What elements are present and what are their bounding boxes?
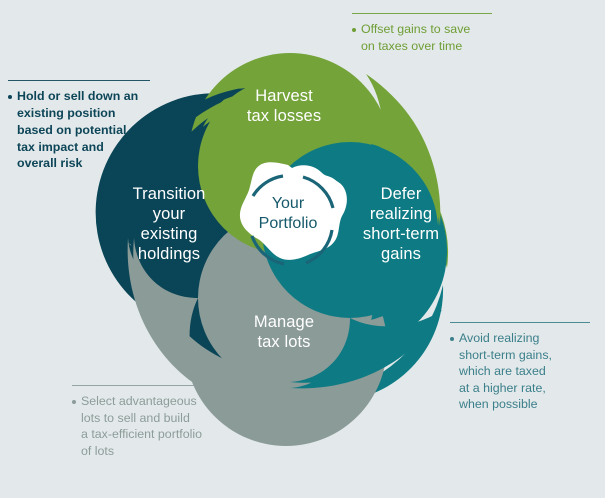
wedge-label-transition: Transition your existing holdings (112, 184, 226, 265)
wedge-label-manage: Manage tax lots (214, 312, 354, 352)
callout-manage: Select advantageous lots to sell and bui… (72, 385, 242, 459)
center-label: Your Portfolio (236, 194, 340, 234)
diagram-canvas: Harvest tax losses Defer realizing short… (0, 0, 605, 498)
callout-text-transition: Hold or sell down an existing position b… (17, 88, 138, 172)
callout-text-defer: Avoid realizing short-term gains, which … (459, 330, 552, 413)
wedge-label-harvest: Harvest tax losses (214, 86, 354, 126)
callout-rule-transition (8, 80, 150, 81)
callout-harvest: Offset gains to save on taxes over time (352, 13, 498, 54)
callout-defer: Avoid realizing short-term gains, which … (450, 322, 596, 413)
bullet-icon (72, 400, 76, 404)
callout-rule-defer (450, 322, 590, 323)
callout-rule-harvest (352, 13, 492, 14)
bullet-icon (450, 337, 454, 341)
bullet-icon (8, 95, 12, 99)
callout-text-harvest: Offset gains to save on taxes over time (361, 21, 470, 54)
callout-text-manage: Select advantageous lots to sell and bui… (81, 393, 202, 459)
wedge-label-defer: Defer realizing short-term gains (340, 184, 462, 265)
callout-rule-manage (72, 385, 224, 386)
callout-transition: Hold or sell down an existing position b… (8, 80, 158, 172)
bullet-icon (352, 28, 356, 32)
